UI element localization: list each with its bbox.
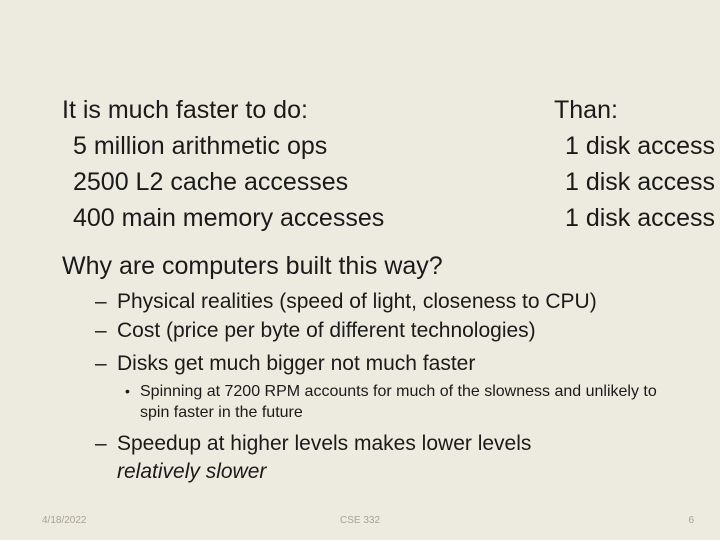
slide-canvas: It is much faster to do: Than: 5 million… <box>0 0 720 540</box>
comparison-header-right: Than: <box>492 92 618 128</box>
dash-bullet-icon: – <box>95 288 117 316</box>
dot-bullet-icon: • <box>125 381 140 402</box>
bullet-text-group: Speedup at higher levels makes lower lev… <box>117 430 531 486</box>
sub-bullet-item: • Spinning at 7200 RPM accounts for much… <box>125 381 670 423</box>
comparison-row-right: 1 disk access <box>503 200 715 236</box>
bullet-item: – Disks get much bigger not much faster <box>95 350 475 378</box>
comparison-header-row: It is much faster to do: Than: <box>0 92 720 128</box>
comparison-row-right: 1 disk access <box>503 128 715 164</box>
bullet-text: Cost (price per byte of different techno… <box>117 317 536 345</box>
dash-bullet-icon: – <box>95 430 117 458</box>
comparison-block: It is much faster to do: Than: 5 million… <box>0 92 720 236</box>
bullet-text: Disks get much bigger not much faster <box>117 350 475 378</box>
comparison-row: 2500 L2 cache accesses 1 disk access <box>0 164 720 200</box>
bullet-text-italic: relatively slower <box>117 458 531 486</box>
bullet-item: – Physical realities (speed of light, cl… <box>95 288 597 316</box>
slide-footer: 4/18/2022 CSE 332 6 <box>0 506 720 540</box>
dash-bullet-icon: – <box>95 350 117 378</box>
footer-course-name: CSE 332 <box>0 514 720 528</box>
sub-bullet-text: Spinning at 7200 RPM accounts for much o… <box>140 381 670 423</box>
dash-bullet-icon: – <box>95 317 117 345</box>
footer-page-number: 6 <box>688 514 694 528</box>
comparison-row-left: 5 million arithmetic ops <box>0 128 503 164</box>
comparison-row: 400 main memory accesses 1 disk access <box>0 200 720 236</box>
comparison-row: 5 million arithmetic ops 1 disk access <box>0 128 720 164</box>
bullet-text: Speedup at higher levels makes lower lev… <box>117 432 531 455</box>
bullet-text: Physical realities (speed of light, clos… <box>117 288 597 316</box>
comparison-header-left: It is much faster to do: <box>0 92 492 128</box>
comparison-row-left: 2500 L2 cache accesses <box>0 164 503 200</box>
bullet-item: – Speedup at higher levels makes lower l… <box>95 430 531 486</box>
comparison-row-right: 1 disk access <box>503 164 715 200</box>
question-line: Why are computers built this way? <box>62 250 443 282</box>
bullet-item: – Cost (price per byte of different tech… <box>95 317 536 345</box>
comparison-row-left: 400 main memory accesses <box>0 200 503 236</box>
